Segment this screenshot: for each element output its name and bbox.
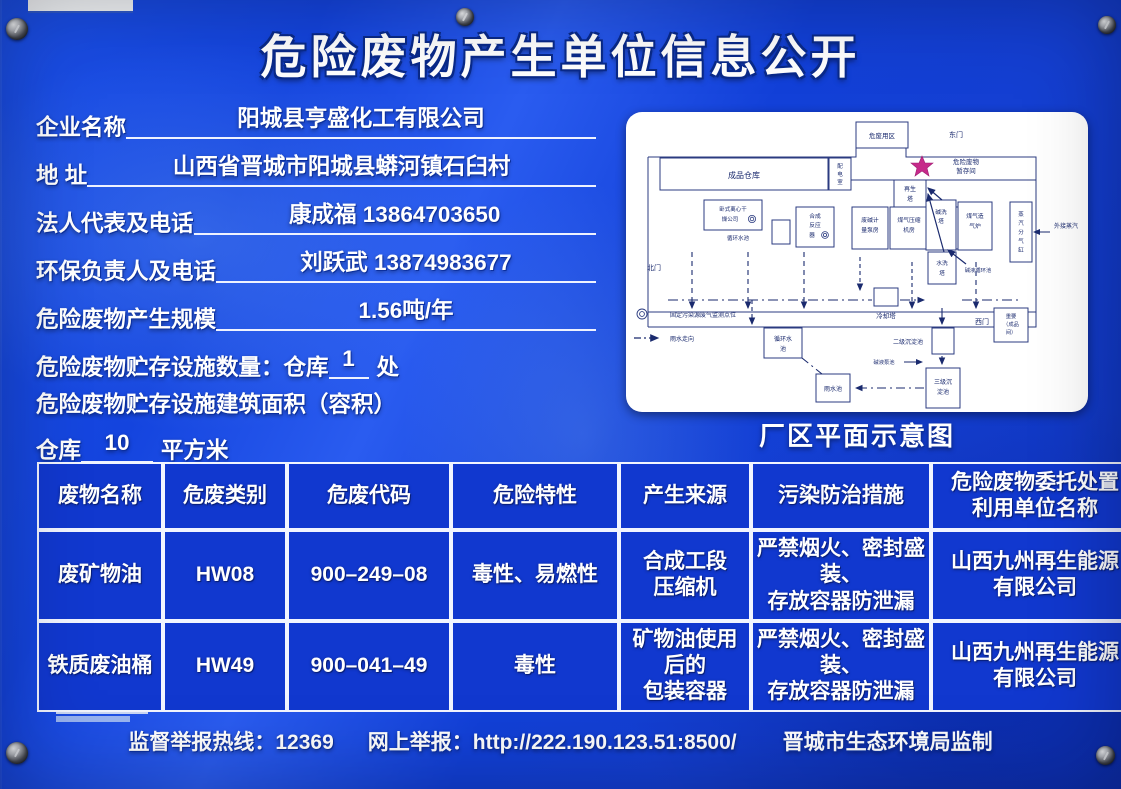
info-row-env-officer: 环保负责人及电话 刘跃武 13874983677 <box>36 252 596 283</box>
table-header-waste-code: 危废代码 <box>287 462 451 530</box>
diagram-block-circulating-water-pool: 循环水 池 <box>764 328 802 358</box>
svg-text:雨水池: 雨水池 <box>824 385 842 393</box>
info-row-storage-area: 仓库 10 平方米 <box>36 432 596 463</box>
cell-source-line2: 压缩机 <box>623 575 747 601</box>
cell-hazard-property: 毒性 <box>451 621 619 712</box>
footer-hotline: 监督举报热线：12369 <box>128 726 333 756</box>
label-company-name: 企业名称 <box>36 117 126 140</box>
value-company-name: 阳城县亨盛化工有限公司 <box>126 108 596 139</box>
svg-text:煤气造: 煤气造 <box>966 212 984 220</box>
svg-text:塔: 塔 <box>939 269 945 277</box>
cell-source-line2: 包装容器 <box>623 679 747 705</box>
value-env-officer: 刘跃武 13874983677 <box>216 252 596 283</box>
monitoring-point-icon <box>637 309 647 319</box>
svg-text:碱洗: 碱洗 <box>935 208 947 216</box>
diagram-gate-north: 北门 <box>647 263 661 272</box>
svg-text:汽: 汽 <box>1018 219 1024 227</box>
diagram-block-steam-manifold: 蒸 汽 分 气 缸 <box>1010 202 1032 262</box>
table-row: 铁质废油桶 HW49 900–041–49 毒性 矿物油使用后的 包装容器 严禁… <box>37 621 1121 712</box>
svg-text:（成品: （成品 <box>1003 320 1019 328</box>
table-header-control-measures: 污染防治措施 <box>751 462 931 530</box>
svg-text:量泵房: 量泵房 <box>861 226 879 234</box>
diagram-gate-east: 东门 <box>949 130 963 139</box>
table-header-disposal-unit-line1: 危险废物委托处置 <box>935 470 1121 496</box>
svg-text:塔: 塔 <box>938 217 944 225</box>
cell-source-line1: 合成工段 <box>623 549 747 575</box>
diagram-block-small-unit <box>772 220 790 244</box>
svg-text:循环水: 循环水 <box>774 335 792 343</box>
label-env-officer: 环保负责人及电话 <box>36 261 216 284</box>
cell-waste-code: 900–249–08 <box>287 530 451 621</box>
company-info-block: 企业名称 阳城县亨盛化工有限公司 地 址 山西省晋城市阳城县蟒河镇石臼村 法人代… <box>36 108 596 478</box>
cell-source-line1: 矿物油使用后的 <box>623 627 747 680</box>
cell-disposal-unit: 山西九州再生能源 有限公司 <box>931 621 1121 712</box>
diagram-block-alkali-pump-room: 废碱计 量泵房 <box>852 207 888 249</box>
board-frame-edge-bottom-2 <box>56 716 130 722</box>
svg-text:气: 气 <box>1018 237 1024 245</box>
hazardous-waste-table: 废物名称 危废类别 危废代码 危险特性 产生来源 污染防治措施 危险废物委托处置… <box>37 462 1121 712</box>
svg-text:燥公司: 燥公司 <box>722 215 739 223</box>
screw-icon <box>456 8 474 26</box>
svg-text:二级沉淀池: 二级沉淀池 <box>893 338 923 346</box>
label-generation-scale: 危险废物产生规模 <box>36 309 216 332</box>
svg-text:三级沉: 三级沉 <box>934 378 952 386</box>
svg-text:器: 器 <box>809 232 815 239</box>
diagram-legend: 固定污染源废气监测点位 雨水走向 <box>634 309 736 343</box>
svg-text:室: 室 <box>837 178 843 186</box>
info-row-company-name: 企业名称 阳城县亨盛化工有限公司 <box>36 108 596 139</box>
diagram-block-cooling-tower: 冷却塔 <box>874 288 898 320</box>
table-header-waste-name: 废物名称 <box>37 462 163 530</box>
board-frame-edge-top <box>28 0 133 13</box>
cell-control-line2: 存放容器防泄漏 <box>755 679 927 705</box>
table-row: 废矿物油 HW08 900–249–08 毒性、易燃性 合成工段 压缩机 严禁烟… <box>37 530 1121 621</box>
diagram-label-hazwaste-store-2: 暂存间 <box>956 166 976 175</box>
cell-disposal-line2: 有限公司 <box>935 666 1121 692</box>
svg-text:池: 池 <box>780 345 786 353</box>
diagram-block-synthesis-reactor: 合成 反应 器 <box>796 207 834 247</box>
diagram-label-alkali-pump: 碱液泵池 <box>873 358 895 366</box>
svg-text:煤气压缩: 煤气压缩 <box>897 216 920 224</box>
cell-waste-category: HW49 <box>163 621 287 712</box>
label-address: 地 址 <box>36 165 87 188</box>
cell-control-line1: 严禁烟火、密封盛装、 <box>755 536 927 589</box>
unit-storage-area: 平方米 <box>153 440 229 463</box>
cell-disposal-line2: 有限公司 <box>935 575 1121 601</box>
footer-bar: 监督举报热线：12369 网上举报：http://222.190.123.51:… <box>0 726 1121 756</box>
label-legal-rep: 法人代表及电话 <box>36 213 194 236</box>
diagram-block-rainwater-pool: 雨水池 <box>816 374 850 402</box>
info-row-storage-count: 危险废物贮存设施数量：仓库 1 处 <box>36 348 596 379</box>
svg-text:缸: 缸 <box>1018 246 1024 254</box>
label-storage-count: 危险废物贮存设施数量：仓库 <box>36 357 329 380</box>
cell-disposal-line1: 山西九州再生能源 <box>935 549 1121 575</box>
label-storage-area: 仓库 <box>36 440 81 463</box>
svg-text:重要: 重要 <box>1006 312 1017 320</box>
factory-plan-svg: 危废用区 东门 北门 西门 成品仓库 配 电 室 <box>626 112 1088 412</box>
diagram-block-gas-producer-furnace: 煤气造 气炉 <box>958 202 992 250</box>
info-row-generation-scale: 危险废物产生规模 1.56吨/年 <box>36 300 596 331</box>
diagram-label-alkali-circulation: 碱液循环池 <box>965 266 992 274</box>
factory-plan-diagram: 危废用区 东门 北门 西门 成品仓库 配 电 室 <box>626 112 1088 412</box>
svg-text:配: 配 <box>837 163 843 170</box>
value-generation-scale: 1.56吨/年 <box>216 300 596 331</box>
cell-waste-category: HW08 <box>163 530 287 621</box>
cell-disposal-line1: 山西九州再生能源 <box>935 640 1121 666</box>
diagram-block-water-scrubber: 水洗 塔 <box>928 252 956 284</box>
diagram-gate-west: 西门 <box>975 317 989 326</box>
svg-text:塔: 塔 <box>907 195 913 203</box>
value-storage-count: 1 <box>329 348 369 379</box>
diagram-block-regeneration-tower: 再生 塔 <box>894 180 926 208</box>
value-storage-area: 10 <box>81 432 153 463</box>
factory-plan-panel: 危废用区 东门 北门 西门 成品仓库 配 电 室 <box>626 112 1088 412</box>
footer-authority: 晋城市生态环境局监制 <box>783 726 993 756</box>
screw-icon <box>1098 16 1116 34</box>
cell-waste-code: 900–041–49 <box>287 621 451 712</box>
diagram-block-centrifugal-dryer: 卧式离心干 燥公司 <box>704 200 762 230</box>
information-board: 危险废物产生单位信息公开 企业名称 阳城县亨盛化工有限公司 地 址 山西省晋城市… <box>0 0 1121 789</box>
label-storage-area-title: 危险废物贮存设施建筑面积（容积） <box>36 394 396 417</box>
cell-source: 合成工段 压缩机 <box>619 530 751 621</box>
cell-disposal-unit: 山西九州再生能源 有限公司 <box>931 530 1121 621</box>
svg-text:合成: 合成 <box>809 212 821 220</box>
page-title: 危险废物产生单位信息公开 <box>0 34 1121 80</box>
svg-text:间）: 间） <box>1006 328 1017 336</box>
diagram-block-tertiary-settling-tank: 三级沉 淀池 <box>926 368 960 408</box>
svg-text:水洗: 水洗 <box>936 259 948 267</box>
value-address: 山西省晋城市阳城县蟒河镇石臼村 <box>87 156 596 187</box>
diagram-annotation-external-steam: 外接蒸汽 <box>1034 222 1078 232</box>
diagram-block-power-room: 配 电 室 <box>829 158 851 190</box>
svg-text:危废用区: 危废用区 <box>869 131 896 140</box>
svg-text:分: 分 <box>1018 228 1024 236</box>
svg-text:电: 电 <box>837 170 843 178</box>
info-row-storage-area-title: 危险废物贮存设施建筑面积（容积） <box>36 394 596 417</box>
svg-text:外接蒸汽: 外接蒸汽 <box>1054 222 1078 230</box>
svg-text:气炉: 气炉 <box>969 222 981 230</box>
cell-waste-name: 废矿物油 <box>37 530 163 621</box>
diagram-block-gas-compressor-room: 煤气压缩 机房 <box>890 207 928 249</box>
diagram-block-product-warehouse: 成品仓库 <box>660 158 828 190</box>
diagram-label-hazwaste-store-1: 危险废物 <box>953 157 980 166</box>
table-header-row: 废物名称 危废类别 危废代码 危险特性 产生来源 污染防治措施 危险废物委托处置… <box>37 462 1121 530</box>
cell-waste-name: 铁质废油桶 <box>37 621 163 712</box>
svg-text:成品仓库: 成品仓库 <box>728 170 760 180</box>
svg-text:废碱计: 废碱计 <box>861 216 879 224</box>
value-legal-rep: 康成福 13864703650 <box>194 204 596 235</box>
diagram-legend-text-0: 固定污染源废气监测点位 <box>670 311 736 319</box>
svg-text:蒸: 蒸 <box>1018 210 1024 218</box>
table-header-disposal-unit-line2: 利用单位名称 <box>935 496 1121 522</box>
svg-text:再生: 再生 <box>904 185 916 193</box>
cell-control-line1: 严禁烟火、密封盛装、 <box>755 627 927 680</box>
info-row-legal-rep: 法人代表及电话 康成福 13864703650 <box>36 204 596 235</box>
cell-control-line2: 存放容器防泄漏 <box>755 589 927 615</box>
table-header-disposal-unit: 危险废物委托处置 利用单位名称 <box>931 462 1121 530</box>
diagram-label-circulating-pool: 循环水池 <box>727 234 750 242</box>
footer-online-report: 网上举报：http://222.190.123.51:8500/ <box>368 726 737 756</box>
diagram-caption: 厂区平面示意图 <box>626 416 1088 453</box>
cell-control-measures: 严禁烟火、密封盛装、 存放容器防泄漏 <box>751 621 931 712</box>
diagram-block-hazwaste-zone: 危废用区 <box>856 122 908 148</box>
hazardous-waste-star-icon <box>911 156 933 176</box>
diagram-block-important-room: 重要 （成品 间） <box>994 308 1028 342</box>
cell-control-measures: 严禁烟火、密封盛装、 存放容器防泄漏 <box>751 530 931 621</box>
unit-storage-count: 处 <box>369 357 400 380</box>
svg-text:冷却塔: 冷却塔 <box>876 311 896 320</box>
svg-text:淀池: 淀池 <box>937 388 949 396</box>
diagram-block-secondary-settling-tank: 二级沉淀池 <box>893 328 954 354</box>
svg-text:反应: 反应 <box>809 221 821 229</box>
svg-text:卧式离心干: 卧式离心干 <box>719 205 747 213</box>
cell-source: 矿物油使用后的 包装容器 <box>619 621 751 712</box>
table-header-source: 产生来源 <box>619 462 751 530</box>
svg-text:机房: 机房 <box>903 226 915 234</box>
cell-hazard-property: 毒性、易燃性 <box>451 530 619 621</box>
table-header-waste-category: 危废类别 <box>163 462 287 530</box>
info-row-address: 地 址 山西省晋城市阳城县蟒河镇石臼村 <box>36 156 596 187</box>
diagram-legend-text-1: 雨水走向 <box>670 335 694 343</box>
table-header-hazard-property: 危险特性 <box>451 462 619 530</box>
